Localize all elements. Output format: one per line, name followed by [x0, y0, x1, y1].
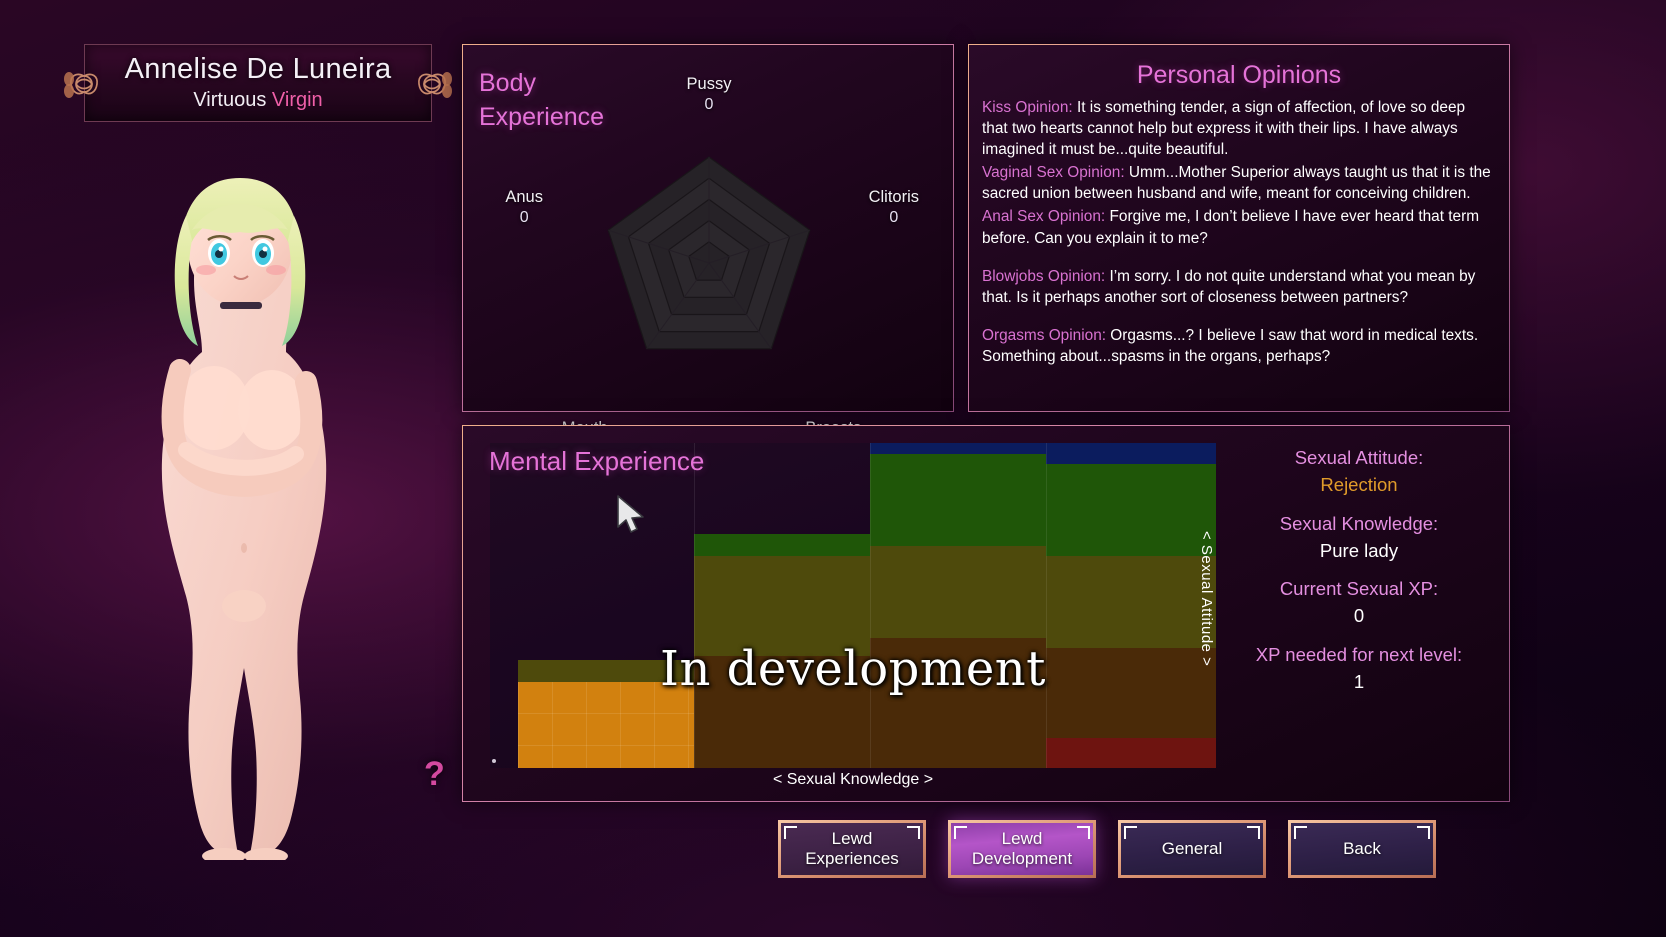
mental-chart-segment [870, 546, 1046, 638]
button-corner-ornament-icon [1247, 826, 1260, 839]
button-label-line1: General [1162, 839, 1222, 859]
opinion-key: Orgasms Opinion: [982, 327, 1106, 344]
button-label-line2: Experiences [805, 849, 899, 869]
mental-stat-value: 1 [1225, 668, 1493, 696]
mental-stat-label: Sexual Knowledge: [1225, 512, 1493, 537]
mental-stat: Current Sexual XP:0 [1225, 577, 1493, 630]
mental-chart-y-axis-label: < Sexual Attitude > [1198, 531, 1215, 666]
mental-chart-gridline-v [1046, 443, 1047, 768]
mental-stat-value: 0 [1225, 602, 1493, 630]
subtitle-status: Virgin [272, 89, 323, 111]
mental-chart-segment [1046, 464, 1216, 556]
radar-axis-value: 0 [654, 95, 764, 114]
mental-chart-column [1046, 443, 1216, 768]
mental-chart-segment [870, 454, 1046, 546]
radar-axis-anus: Anus0 [469, 188, 579, 227]
bottom-button-bar: LewdExperiencesLewdDevelopmentGeneralBac… [778, 820, 1436, 878]
mental-experience-panel: In development Mental Experience < Sexua… [462, 425, 1510, 802]
opinion-key: Kiss Opinion: [982, 99, 1073, 116]
opinion-item: Blowjobs Opinion: I’m sorry. I do not qu… [982, 266, 1495, 308]
opinion-item: Anal Sex Opinion: Forgive me, I don’t be… [982, 206, 1495, 248]
mental-chart-segment [1046, 556, 1216, 648]
character-subtitle: Virtuous Virgin [193, 89, 322, 112]
radar-axis-label: Clitoris [869, 188, 919, 206]
button-general[interactable]: General [1118, 820, 1266, 878]
mental-chart-gridline-v [870, 443, 871, 768]
button-lewd-experiences[interactable]: LewdExperiences [778, 820, 926, 878]
mental-chart-segment [1046, 443, 1216, 464]
mental-stat: Sexual Knowledge:Pure lady [1225, 512, 1493, 565]
button-corner-ornament-icon [954, 826, 967, 839]
game-screen: Annelise De Luneira Virtuous Virgin ? Bo… [0, 0, 1666, 937]
button-lewd-development[interactable]: LewdDevelopment [948, 820, 1096, 878]
mental-experience-title: Mental Experience [489, 446, 704, 477]
personal-opinions-title: Personal Opinions [969, 61, 1509, 90]
button-corner-ornament-icon [1124, 826, 1137, 839]
mental-stat-value: Pure lady [1225, 537, 1493, 565]
opinion-item: Orgasms Opinion: Orgasms...? I believe I… [982, 325, 1495, 367]
body-experience-radar-chart: Pussy0Clitoris0Breasts0Mouth0Anus0 [463, 45, 955, 413]
mouse-cursor-icon [615, 494, 649, 541]
button-corner-ornament-icon [907, 826, 920, 839]
opinion-item: Vaginal Sex Opinion: Umm...Mother Superi… [982, 162, 1495, 204]
opinion-item: Kiss Opinion: It is something tender, a … [982, 97, 1495, 160]
in-development-overlay: In development [490, 641, 1216, 697]
mental-stat-value: Rejection [1225, 471, 1493, 499]
character-nameplate: Annelise De Luneira Virtuous Virgin [84, 44, 432, 122]
subtitle-prefix: Virtuous [193, 89, 272, 111]
knot-ornament-right-icon [411, 63, 453, 105]
mental-chart-x-axis-label: < Sexual Knowledge > [490, 771, 1216, 789]
radar-axis-label: Anus [505, 188, 543, 206]
mental-stats-column: Sexual Attitude:RejectionSexual Knowledg… [1225, 446, 1493, 709]
button-label-line1: Lewd [832, 829, 873, 849]
radar-axis-value: 0 [839, 208, 949, 227]
radar-axis-value: 0 [469, 208, 579, 227]
mental-chart-segment [870, 443, 1046, 454]
mental-chart-segment [694, 534, 870, 556]
character-portrait [120, 120, 360, 860]
chart-origin-dot [492, 759, 496, 763]
mental-experience-chart: In development [490, 443, 1216, 768]
body-experience-panel: BodyExperience Pussy0Clitoris0Breasts0Mo… [462, 44, 954, 412]
mental-chart-segment [1046, 738, 1216, 768]
button-label-line2: Development [972, 849, 1072, 869]
button-back[interactable]: Back [1288, 820, 1436, 878]
opinion-key: Blowjobs Opinion: [982, 268, 1105, 285]
opinion-list: Kiss Opinion: It is something tender, a … [982, 97, 1495, 367]
character-name: Annelise De Luneira [125, 54, 392, 84]
knot-ornament-left-icon [63, 63, 105, 105]
mental-chart-gridline-v [694, 443, 695, 768]
button-corner-ornament-icon [1417, 826, 1430, 839]
opinion-key: Vaginal Sex Opinion: [982, 164, 1125, 181]
mental-stat-label: Current Sexual XP: [1225, 577, 1493, 602]
mental-chart-column [870, 443, 1046, 768]
opinion-key: Anal Sex Opinion: [982, 208, 1105, 225]
mental-stat-label: Sexual Attitude: [1225, 446, 1493, 471]
mental-stat-label: XP needed for next level: [1225, 643, 1493, 668]
help-question-icon[interactable]: ? [424, 755, 445, 794]
mental-stat: Sexual Attitude:Rejection [1225, 446, 1493, 499]
button-label-line1: Back [1343, 839, 1381, 859]
button-label-line1: Lewd [1002, 829, 1043, 849]
radar-axis-pussy: Pussy0 [654, 75, 764, 114]
mental-stat: XP needed for next level:1 [1225, 643, 1493, 696]
personal-opinions-panel: Personal Opinions Kiss Opinion: It is so… [968, 44, 1510, 412]
radar-axis-label: Pussy [687, 75, 732, 93]
radar-axis-clitoris: Clitoris0 [839, 188, 949, 227]
button-corner-ornament-icon [1294, 826, 1307, 839]
button-corner-ornament-icon [1077, 826, 1090, 839]
button-corner-ornament-icon [784, 826, 797, 839]
